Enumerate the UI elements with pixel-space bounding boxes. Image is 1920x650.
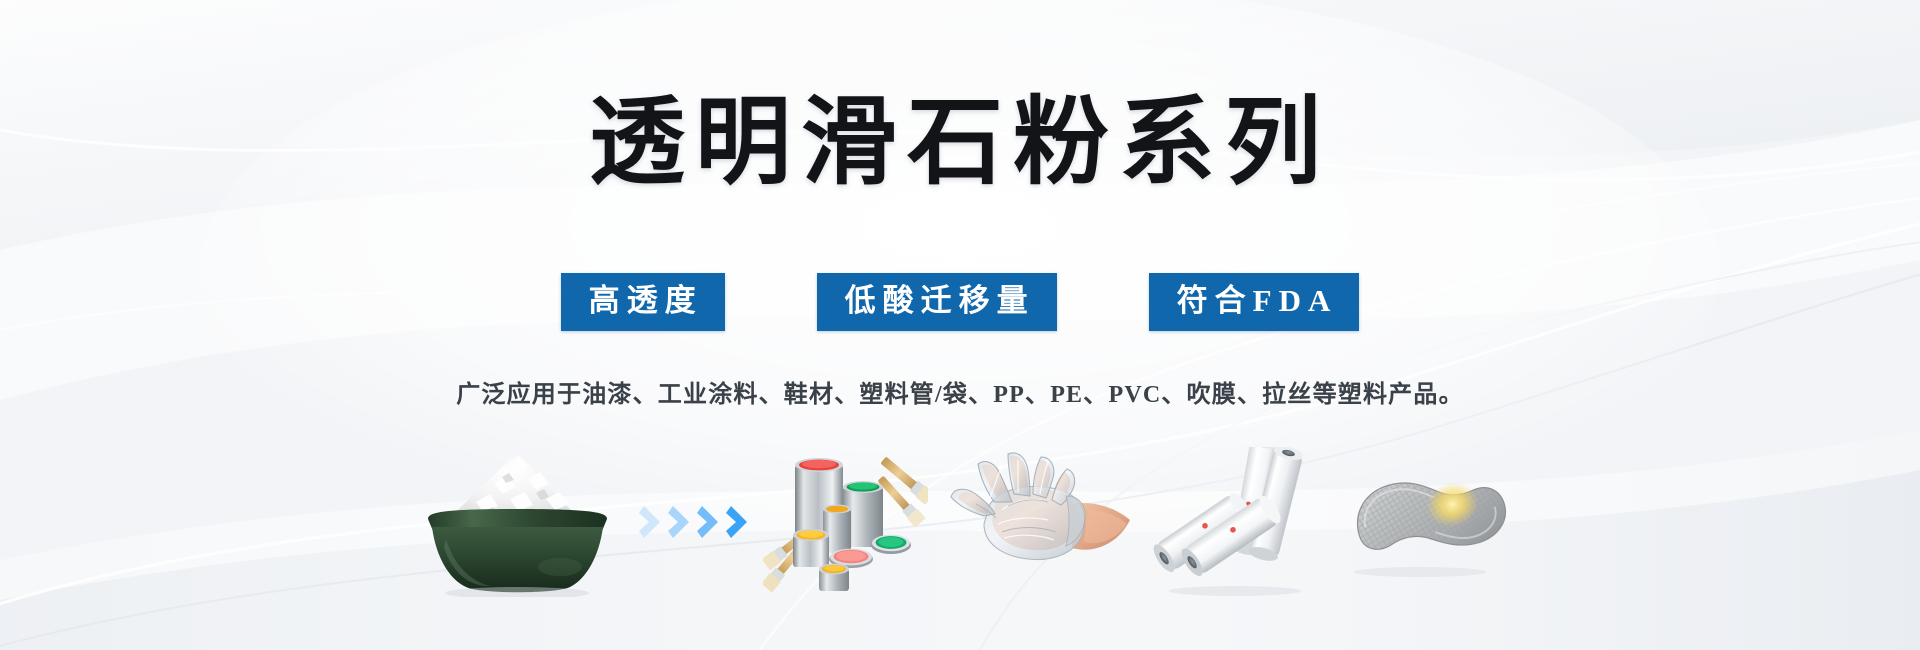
paint-cans-image: [758, 437, 933, 607]
product-banner: 透明滑石粉系列 高透度 低酸迁移量 符合FDA 广泛应用于油漆、工业涂料、鞋材、…: [0, 0, 1920, 650]
chevron-right-icon-3: [697, 502, 723, 542]
application-description: 广泛应用于油漆、工业涂料、鞋材、塑料管/袋、PP、PE、PVC、吹膜、拉丝等塑料…: [0, 374, 1920, 409]
chevron-right-icon-1: [639, 502, 665, 542]
badge-fda-compliant[interactable]: 符合FDA: [1149, 273, 1360, 331]
badge-high-transparency[interactable]: 高透度: [561, 273, 725, 331]
chevron-right-icon-2: [668, 502, 694, 542]
page-title: 透明滑石粉系列: [0, 90, 1920, 196]
chevron-right-icon-4: [726, 502, 752, 542]
shoe-sole-image: [1323, 437, 1518, 607]
talc-powder-bowl-image: [403, 437, 633, 607]
badge-low-acid-migration[interactable]: 低酸迁移量: [817, 273, 1057, 331]
plastic-film-rolls-image: [1138, 437, 1323, 607]
product-application-strip: [0, 432, 1920, 612]
feature-badge-row: 高透度 低酸迁移量 符合FDA: [0, 273, 1920, 331]
plastic-glove-hand-image: [933, 437, 1138, 607]
arrow-chevrons-icon: [633, 437, 758, 607]
